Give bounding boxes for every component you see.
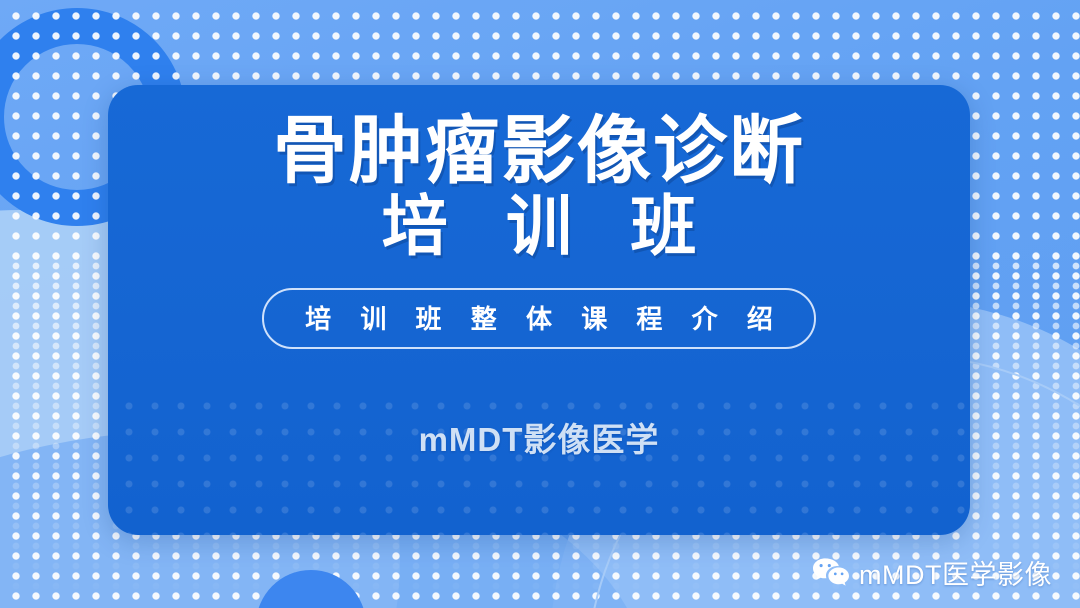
wechat-icon bbox=[812, 557, 850, 589]
title-card-content: 骨肿瘤影像诊断 培 训 班 培 训 班 整 体 课 程 介 绍 mMDT影像医学 bbox=[108, 85, 970, 535]
poster-slide: 骨肿瘤影像诊断 培 训 班 培 训 班 整 体 课 程 介 绍 mMDT影像医学… bbox=[0, 0, 1080, 608]
course-subtitle-pill: 培 训 班 整 体 课 程 介 绍 bbox=[262, 288, 816, 349]
watermark-text: mMDT医学影像 bbox=[859, 553, 1052, 592]
title-card: 骨肿瘤影像诊断 培 训 班 培 训 班 整 体 课 程 介 绍 mMDT影像医学 bbox=[108, 85, 970, 535]
page-title-line2: 培 训 班 bbox=[362, 192, 717, 261]
watermark: mMDT医学影像 bbox=[812, 553, 1052, 592]
brand-label: mMDT影像医学 bbox=[419, 413, 660, 461]
page-title-line1: 骨肿瘤影像诊断 bbox=[273, 113, 805, 188]
